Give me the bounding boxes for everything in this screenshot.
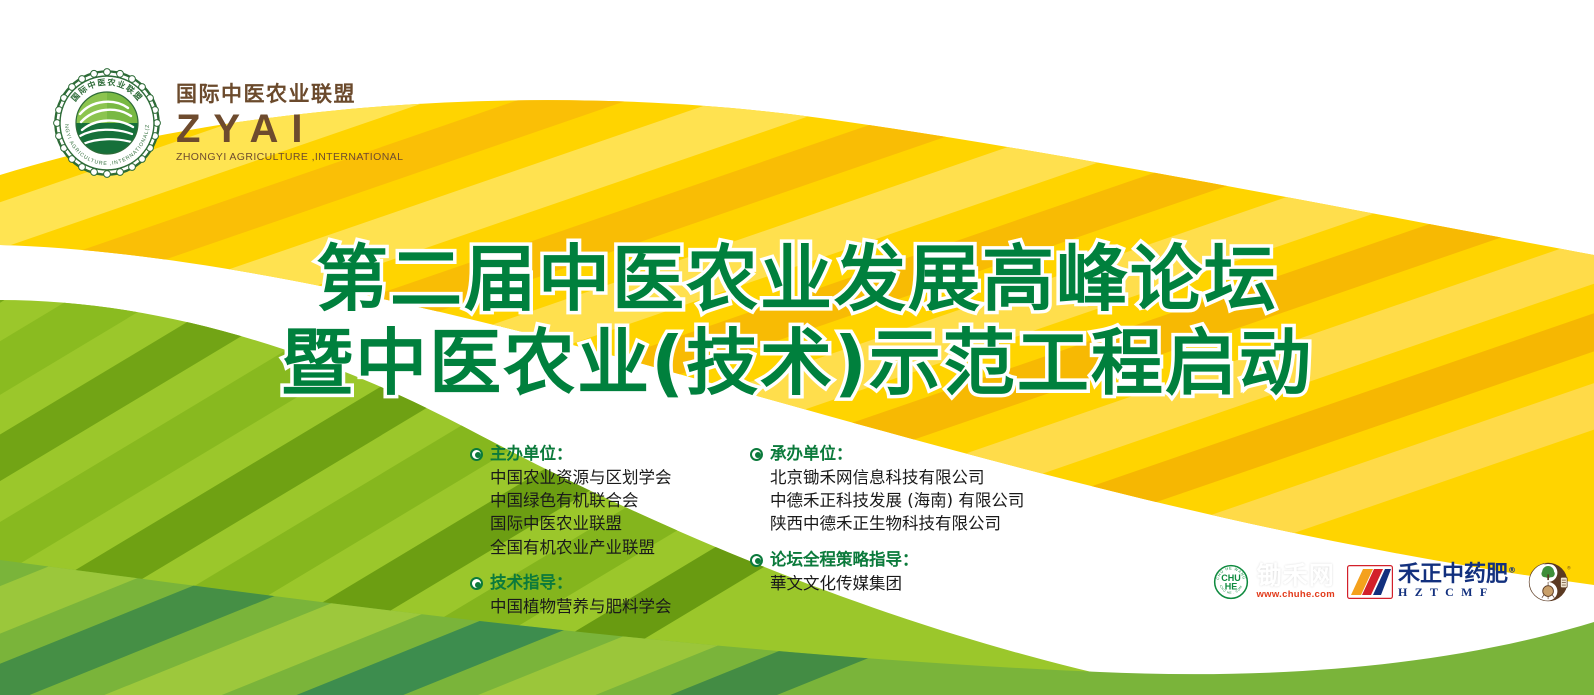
organizer-group-strategy: 论坛全程策略指导： 華文文化传媒集团: [750, 550, 1050, 595]
yinyang-seed-icon: ®: [1528, 561, 1572, 603]
organizers-left-column: 主办单位： 中国农业资源与区划学会 中国绿色有机联合会 国际中医农业联盟 全国有…: [470, 444, 732, 618]
sponsor-seed-yinyang[interactable]: ®: [1528, 561, 1572, 603]
hztcmf-name-cn-label: 禾正中药肥: [1398, 562, 1508, 587]
group-heading-label: 主办单位：: [490, 444, 573, 465]
list-item: 華文文化传媒集团: [750, 572, 1050, 595]
list-item: 中国植物营养与肥料学会: [470, 595, 732, 618]
hztcmf-mark-icon: [1347, 565, 1393, 599]
logo-name-en: ZHONGYI AGRICULTURE ,INTERNATIONAL: [176, 151, 403, 163]
chuhe-url: www.chuhe.com: [1256, 589, 1335, 600]
sponsor-hztcmf[interactable]: 禾正中药肥® H Z T C M F: [1347, 564, 1516, 599]
zyai-wordmark: 国际中医农业联盟 ZYAI ZHONGYI AGRICULTURE ,INTER…: [176, 83, 403, 162]
group-heading: 主办单位：: [470, 444, 732, 465]
organizer-group-undertaker: 承办单位： 北京锄禾网信息科技有限公司 中德禾正科技发展 (海南) 有限公司 陕…: [750, 444, 1050, 536]
organizer-group-tech-guidance: 技术指导： 中国植物营养与肥料学会: [470, 573, 732, 618]
list-item: 中德禾正科技发展 (海南) 有限公司: [750, 489, 1050, 512]
group-heading-label: 技术指导：: [490, 573, 573, 594]
organizer-group-host: 主办单位： 中国农业资源与区划学会 中国绿色有机联合会 国际中医农业联盟 全国有…: [470, 444, 732, 559]
chuhe-badge-icon: CHU HE WANG CHU HE . COM CHU HE: [1212, 563, 1250, 601]
hztcmf-name-en: H Z T C M F: [1398, 586, 1489, 599]
organization-logo: 国际中医农业联盟 ZHONGYI AGRICULTURE ,INTERNATIO…: [52, 68, 403, 178]
title-line-2: 暨中医农业(技术)示范工程启动: [0, 322, 1594, 406]
list-item: 陕西中德禾正生物科技有限公司: [750, 512, 1050, 535]
logo-abbr: ZYAI: [176, 109, 315, 149]
chuhe-name: 锄禾网: [1257, 564, 1335, 589]
list-item: 中国农业资源与区划学会: [470, 466, 732, 489]
svg-text:HE: HE: [1225, 582, 1238, 592]
bullet-icon: [750, 448, 763, 461]
group-heading: 技术指导：: [470, 573, 732, 594]
sponsor-logos: CHU HE WANG CHU HE . COM CHU HE 锄禾网 www.…: [1212, 561, 1572, 603]
group-heading: 承办单位：: [750, 444, 1050, 465]
registered-mark: ®: [1508, 566, 1516, 575]
svg-text:®: ®: [1567, 565, 1571, 572]
group-heading-label: 论坛全程策略指导：: [770, 550, 919, 571]
hztcmf-name-cn: 禾正中药肥®: [1398, 564, 1516, 586]
organizers-right-column: 承办单位： 北京锄禾网信息科技有限公司 中德禾正科技发展 (海南) 有限公司 陕…: [750, 444, 1050, 618]
organizers-info: 主办单位： 中国农业资源与区划学会 中国绿色有机联合会 国际中医农业联盟 全国有…: [470, 444, 1050, 618]
zyai-seal-icon: 国际中医农业联盟 ZHONGYI AGRICULTURE ,INTERNATIO…: [52, 68, 162, 178]
logo-name-cn: 国际中医农业联盟: [176, 83, 356, 106]
list-item: 北京锄禾网信息科技有限公司: [750, 466, 1050, 489]
group-heading-label: 承办单位：: [770, 444, 853, 465]
bullet-icon: [470, 448, 483, 461]
event-title: 第二届中医农业发展高峰论坛 暨中医农业(技术)示范工程启动: [0, 238, 1594, 405]
sponsor-chuhe[interactable]: CHU HE WANG CHU HE . COM CHU HE 锄禾网 www.…: [1212, 563, 1335, 601]
group-heading: 论坛全程策略指导：: [750, 550, 1050, 571]
list-item: 中国绿色有机联合会: [470, 489, 732, 512]
bullet-icon: [750, 554, 763, 567]
bullet-icon: [470, 577, 483, 590]
list-item: 国际中医农业联盟: [470, 512, 732, 535]
title-line-1: 第二届中医农业发展高峰论坛: [0, 238, 1594, 322]
list-item: 全国有机农业产业联盟: [470, 536, 732, 559]
event-banner: 国际中医农业联盟 ZHONGYI AGRICULTURE ,INTERNATIO…: [0, 0, 1594, 695]
